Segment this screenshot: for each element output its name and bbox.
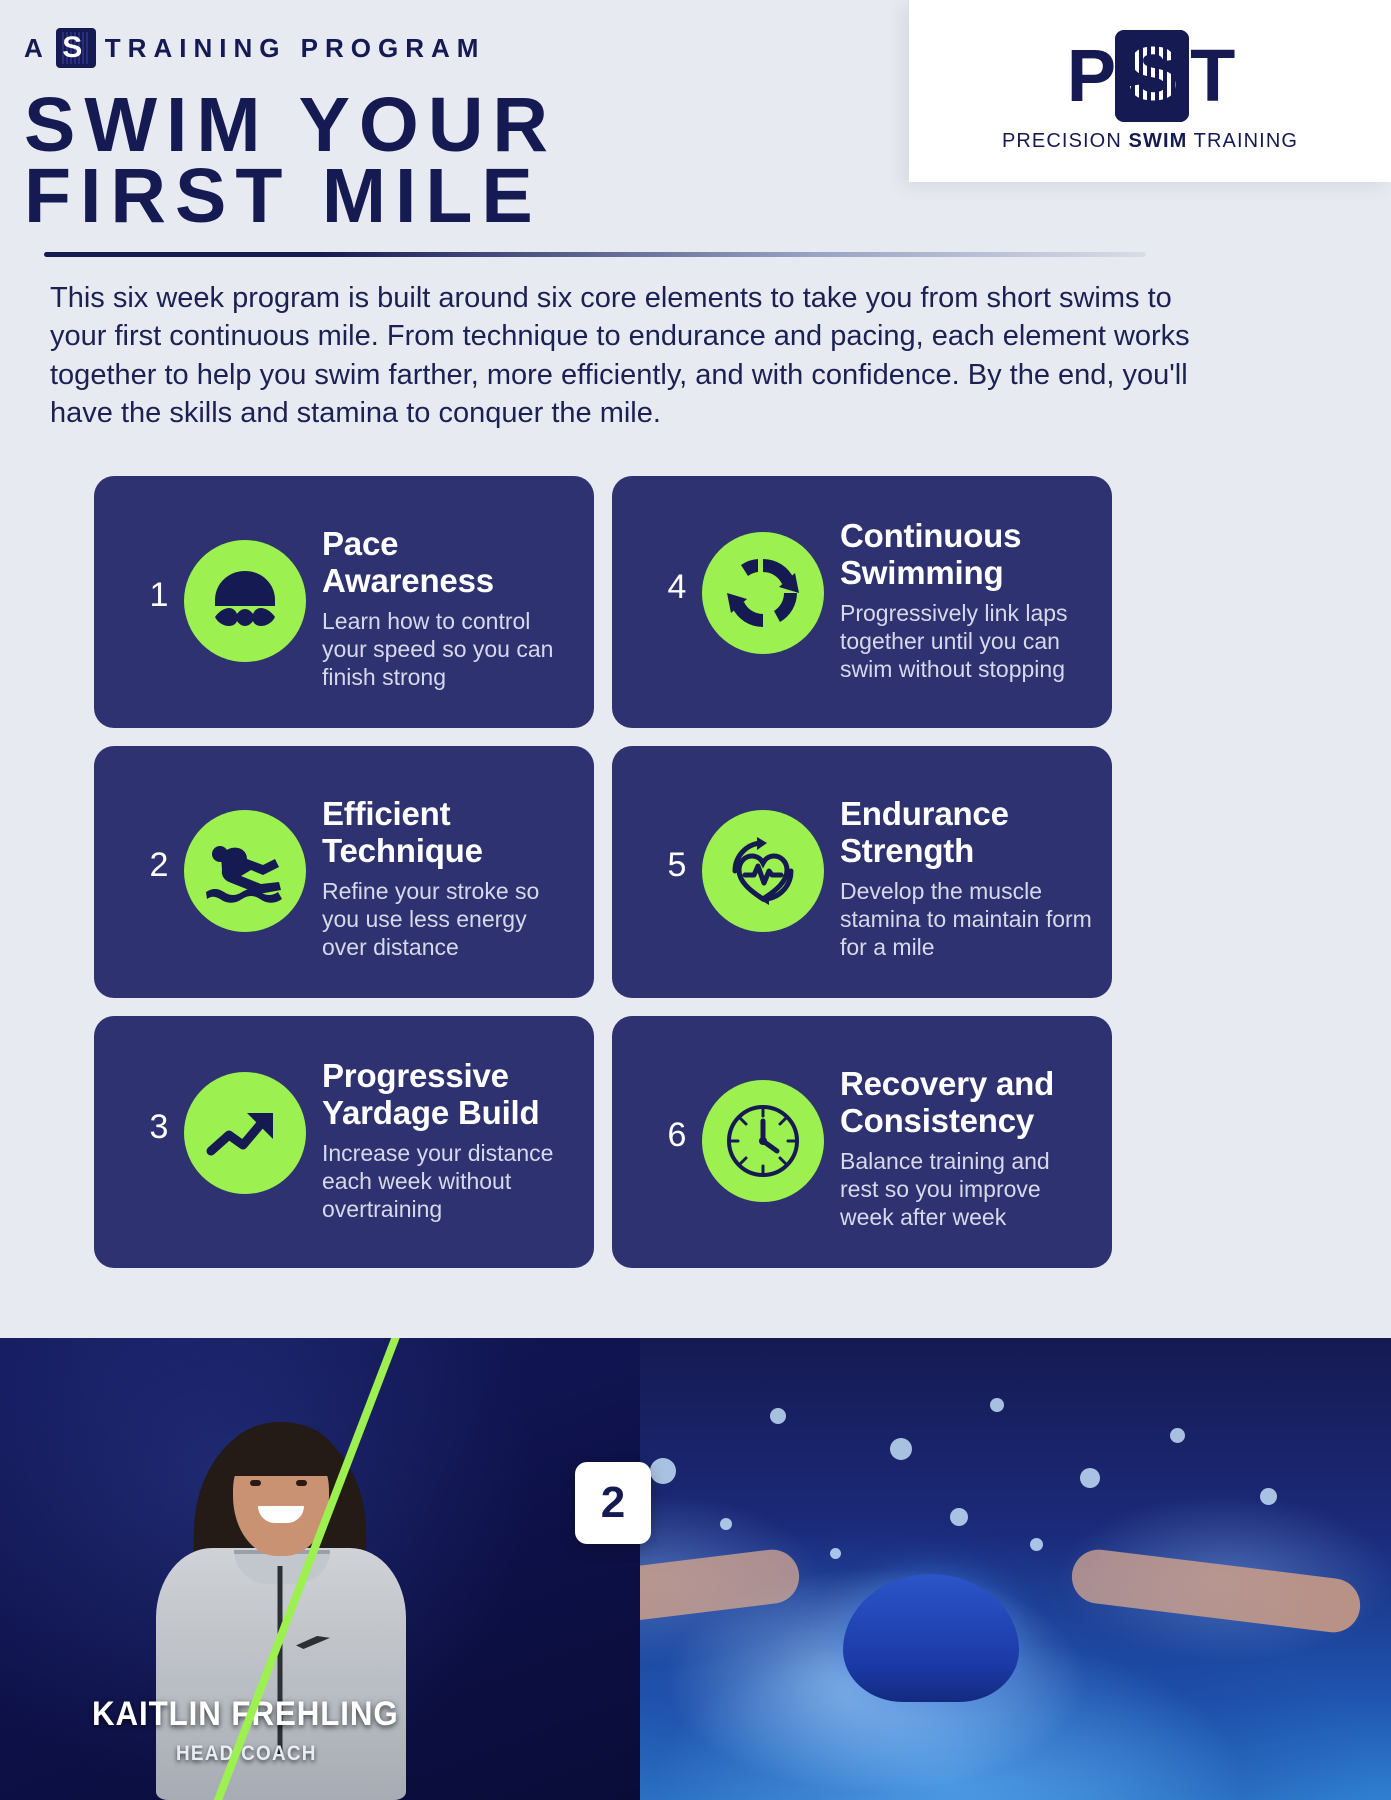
element-card-continuous-swimming[interactable]: 4 Continuous Swimming Progressively link…: [612, 476, 1112, 728]
card-title: Continuous Swimming: [840, 518, 1094, 592]
card-description: Progressively link laps together until y…: [840, 599, 1094, 683]
water-splash: [1170, 1428, 1185, 1443]
header-divider: [44, 252, 1146, 257]
water-splash: [890, 1438, 912, 1460]
card-text: Endurance Strength Develop the muscle st…: [840, 792, 1094, 961]
logo-letter-s: S: [1128, 41, 1177, 109]
logo-letter-t: T: [1190, 39, 1233, 113]
elements-grid: 1 Pace Awareness Learn how to control yo…: [94, 476, 1112, 1268]
card-description: Balance training and rest so you improve…: [840, 1147, 1094, 1231]
card-title: Efficient Technique: [322, 796, 576, 870]
card-title: Recovery and Consistency: [840, 1066, 1094, 1140]
card-number: 5: [660, 848, 694, 882]
card-text: Continuous Swimming Progressively link l…: [840, 514, 1094, 683]
water-splash: [1030, 1538, 1043, 1551]
card-text: Recovery and Consistency Balance trainin…: [840, 1062, 1094, 1231]
card-description: Develop the muscle stamina to maintain f…: [840, 877, 1094, 961]
swimmer-icon: [184, 810, 306, 932]
water-splash: [1260, 1488, 1277, 1505]
card-number: 6: [660, 1118, 694, 1152]
card-text: Efficient Technique Refine your stroke s…: [322, 792, 576, 961]
clock-icon: [702, 1080, 824, 1202]
cycle-arrows-icon: [702, 532, 824, 654]
water-splash: [770, 1408, 786, 1424]
coach-hair-front: [222, 1422, 340, 1476]
tagline-training: TRAINING: [1187, 130, 1298, 152]
card-text: Progressive Yardage Build Increase your …: [322, 1054, 576, 1223]
pst-logo-card: P S T PRECISION SWIM TRAINING: [909, 0, 1391, 182]
water-splash: [720, 1518, 732, 1530]
card-number: 3: [142, 1110, 176, 1144]
tagline-precision: PRECISION: [1002, 130, 1129, 152]
card-number: 1: [142, 578, 176, 612]
coach-eye-left: [250, 1480, 261, 1486]
intro-paragraph: This six week program is built around si…: [50, 279, 1210, 433]
coach-eye-right: [296, 1480, 307, 1486]
coach-role: HEAD COACH: [176, 1742, 317, 1766]
page-number-badge: 2: [575, 1462, 651, 1544]
swim-cap-goggles-icon: [184, 540, 306, 662]
eyebrow-words: TRAINING PROGRAM: [105, 33, 486, 64]
brand-tagline: PRECISION SWIM TRAINING: [1002, 130, 1298, 153]
water-splash: [1080, 1468, 1100, 1488]
water-splash: [950, 1508, 968, 1526]
element-card-progressive-yardage-build[interactable]: 3 Progressive Yardage Build Increase you…: [94, 1016, 594, 1268]
water-splash: [650, 1458, 676, 1484]
pst-logo-mark: P S T: [1067, 30, 1234, 122]
card-description: Learn how to control your speed so you c…: [322, 607, 576, 691]
tagline-swim: SWIM: [1129, 130, 1188, 152]
card-number: 2: [142, 848, 176, 882]
element-card-recovery-and-consistency[interactable]: 6: [612, 1016, 1112, 1268]
swimmer-arm-right: [1069, 1547, 1363, 1636]
card-title: Pace Awareness: [322, 526, 576, 600]
eyebrow-a-text: A: [24, 33, 47, 64]
mini-logo-letter: S: [62, 33, 89, 63]
card-title: Endurance Strength: [840, 796, 1094, 870]
card-description: Increase your distance each week without…: [322, 1139, 576, 1223]
card-title: Progressive Yardage Build: [322, 1058, 576, 1132]
card-number: 4: [660, 570, 694, 604]
page-footer: KAITLIN FREHLING HEAD COACH: [0, 1338, 1391, 1800]
logo-s-badge-icon: S: [1115, 30, 1189, 122]
logo-letter-p: P: [1067, 39, 1114, 113]
water-splash: [990, 1398, 1004, 1412]
heart-pulse-arrows-icon: [702, 810, 824, 932]
card-text: Pace Awareness Learn how to control your…: [322, 522, 576, 691]
growth-arrow-icon: [184, 1072, 306, 1194]
coach-figure: [150, 1400, 410, 1800]
pst-mini-logo-icon: S: [56, 28, 96, 68]
element-card-efficient-technique[interactable]: 2 Efficient Technique Refine your stroke…: [94, 746, 594, 998]
element-card-endurance-strength[interactable]: 5 Endurance Strength Develop the muscle …: [612, 746, 1112, 998]
swimmer-cap: [843, 1574, 1019, 1702]
element-card-pace-awareness[interactable]: 1 Pace Awareness Learn how to control yo…: [94, 476, 594, 728]
page-root: A S TRAINING PROGRAM SWIM YOUR FIRST MIL…: [0, 0, 1391, 1800]
water-splash: [830, 1548, 841, 1559]
card-description: Refine your stroke so you use less energ…: [322, 877, 576, 961]
